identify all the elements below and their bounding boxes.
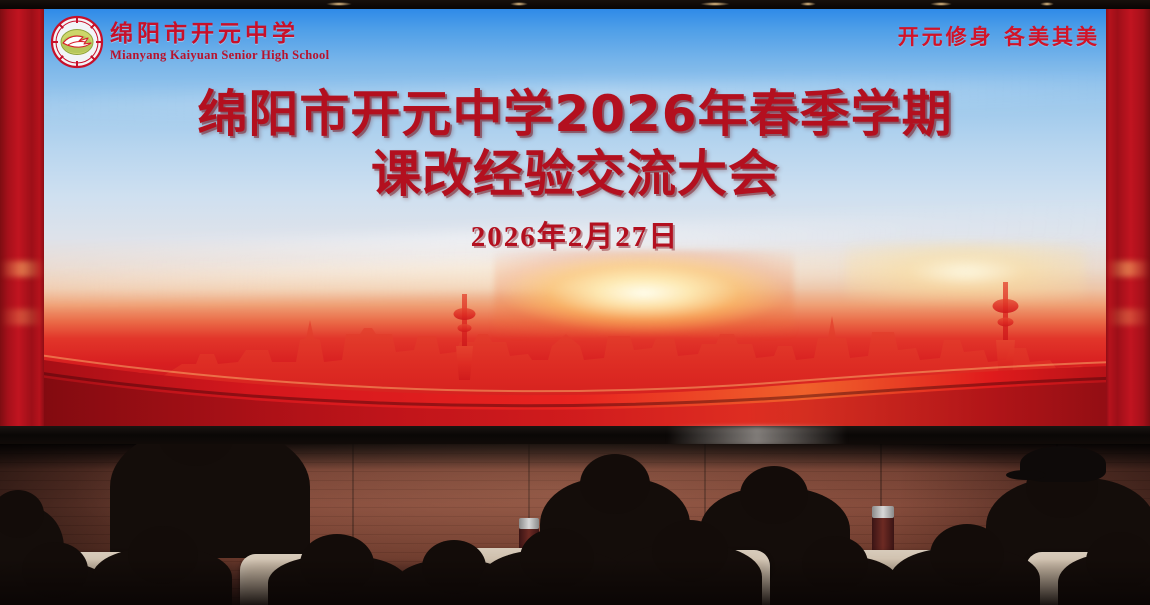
city-skyline-silhouette [0,276,1150,426]
ceiling-glint [800,2,816,6]
school-motto: 开元修身 各美其美 [898,21,1100,51]
person-head [740,466,808,524]
school-brand: 绵阳市开元中学 Mianyang Kaiyuan Senior High Sch… [50,15,329,69]
thermos-bottle-cap [872,506,894,518]
thermos-bottle-cap [519,518,539,529]
banner-title-line2: 课改经验交流大会 [0,147,1150,201]
school-name-cn: 绵阳市开元中学 [110,23,329,46]
school-crest-icon [50,15,104,69]
school-name-en: Mianyang Kaiyuan Senior High School [110,49,329,62]
led-screen: 绵阳市开元中学 Mianyang Kaiyuan Senior High Sch… [0,9,1150,426]
ceiling-glint [510,2,528,6]
banner-date: 2026年2月27日 [0,213,1150,255]
ceiling-glint [326,2,352,6]
screen-bezel [0,426,1150,446]
banner-title-line1: 绵阳市开元中学2026年春季学期 [0,87,1150,141]
ceiling-glint [1040,2,1054,6]
ceiling-glint [700,2,730,6]
screen-header: 绵阳市开元中学 Mianyang Kaiyuan Senior High Sch… [50,13,1100,69]
conference-photo: 绵阳市开元中学 Mianyang Kaiyuan Senior High Sch… [0,0,1150,605]
baseball-cap-icon [1020,446,1106,482]
person-head [580,454,650,514]
ceiling-glint [930,2,952,6]
banner-titles: 绵阳市开元中学2026年春季学期 课改经验交流大会 2026年2月27日 [0,87,1150,255]
auditorium [0,444,1150,605]
bezel-reflection [667,426,847,446]
hall-foreground-fade [0,559,1150,605]
